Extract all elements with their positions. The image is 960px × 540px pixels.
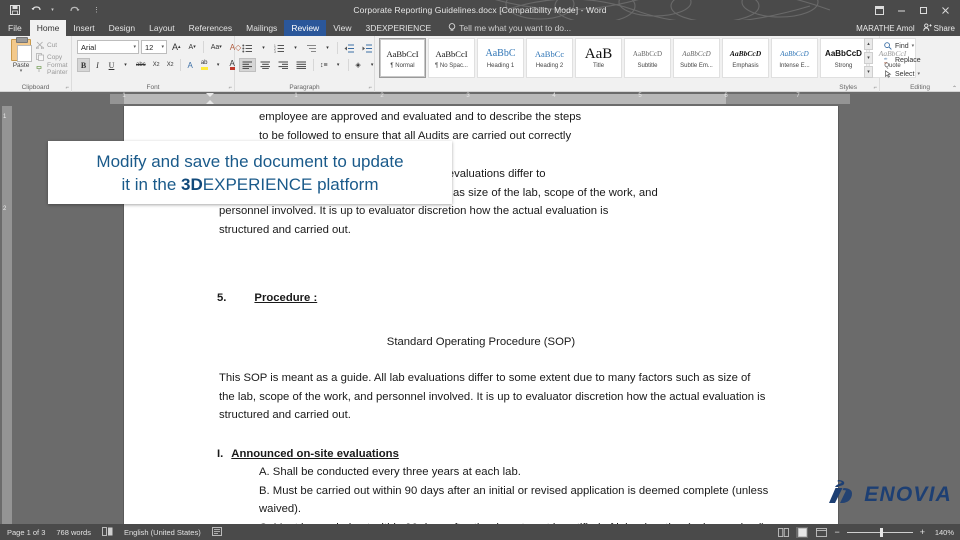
shading-button[interactable]: ◈ bbox=[352, 58, 365, 72]
select-caret-icon[interactable]: ▾ bbox=[917, 71, 920, 77]
underline-caret-icon[interactable]: ▾ bbox=[119, 58, 132, 72]
highlight-caret-icon[interactable]: ▾ bbox=[212, 58, 225, 72]
shrink-font-button[interactable]: A▾ bbox=[186, 40, 199, 54]
language-indicator[interactable]: English (United States) bbox=[124, 528, 201, 537]
account-area: MARATHE Amol Share bbox=[856, 20, 955, 36]
style-card-strong[interactable]: AaBbCcD Strong bbox=[820, 38, 867, 78]
select-label: Select bbox=[895, 71, 914, 78]
ribbon: Paste ▾ Cut Copy bbox=[0, 36, 960, 92]
callout-tooltip: Modify and save the document to update i… bbox=[48, 141, 452, 204]
zoom-in-button[interactable]: + bbox=[920, 527, 925, 537]
format-painter-label: Format Painter bbox=[47, 62, 71, 76]
ribbon-group-styles: AaBbCcI ¶ Normal AaBbCcI ¶ No Spac... Aa… bbox=[375, 36, 880, 92]
chevron-down-icon: ▾ bbox=[161, 44, 164, 50]
horizontal-ruler[interactable]: 1 1 2 3 4 5 6 7 bbox=[0, 92, 960, 106]
list-heading: I. Announced on-site evaluations bbox=[124, 445, 838, 464]
underline-button[interactable]: U bbox=[105, 58, 118, 72]
list-item: A. Shall be conducted every three years … bbox=[259, 463, 803, 482]
text-highlight-color-button[interactable]: ab bbox=[198, 58, 211, 72]
ruler-number: 7 bbox=[796, 93, 799, 99]
style-label: ¶ No Spac... bbox=[435, 63, 468, 69]
restore-icon[interactable] bbox=[912, 0, 934, 20]
style-label: ¶ Normal bbox=[390, 63, 414, 69]
style-card-subtle-emphasis[interactable]: AaBbCcD Subtle Em... bbox=[673, 38, 720, 78]
ruler-number: 3 bbox=[466, 93, 469, 99]
select-button[interactable]: Select ▾ bbox=[880, 67, 960, 81]
ribbon-group-paragraph: ▾ 123 ▾ ▾ ↓↑ ¶ ↕≡ ▾ ◈ bbox=[235, 36, 375, 92]
callout-3d-bold: 3D bbox=[181, 175, 203, 194]
strikethrough-button[interactable]: abc bbox=[133, 58, 149, 72]
ruler-number: 2 bbox=[380, 93, 383, 99]
first-line-indent-marker[interactable] bbox=[206, 93, 214, 97]
vertical-ruler[interactable]: 1 2 bbox=[0, 106, 14, 524]
copy-label: Copy bbox=[47, 54, 62, 61]
tell-me-placeholder: Tell me what you want to do... bbox=[459, 23, 571, 33]
style-label: Subtitle bbox=[637, 63, 657, 69]
tab-mailings[interactable]: Mailings bbox=[239, 20, 284, 36]
format-painter-icon bbox=[36, 65, 44, 73]
word-application-window: ▾ ⋮ Corporate Reporting Guidelines.docx … bbox=[0, 0, 960, 540]
callout-line-2-prefix: it in the bbox=[121, 175, 181, 194]
find-label: Find bbox=[895, 43, 909, 50]
styles-more-icon[interactable]: ▾ bbox=[864, 66, 873, 78]
paragraph: structured and carried out. bbox=[124, 221, 838, 240]
ribbon-group-editing: Find ▾ abac Replace Select ▾ Editing ⌃ bbox=[880, 36, 960, 92]
search-icon bbox=[884, 42, 892, 50]
proofing-errors-icon[interactable] bbox=[102, 527, 113, 538]
line-spacing-caret-icon[interactable]: ▾ bbox=[332, 58, 345, 72]
style-card-emphasis[interactable]: AaBbCcD Emphasis bbox=[722, 38, 769, 78]
style-card-title[interactable]: AaB Title bbox=[575, 38, 622, 78]
increase-indent-button[interactable] bbox=[359, 41, 376, 55]
tab-3dexperience[interactable]: 3DEXPERIENCE bbox=[358, 20, 438, 36]
print-layout-view-button[interactable] bbox=[796, 527, 808, 538]
enovia-brand-text: ENOVIA bbox=[864, 483, 952, 507]
3ds-logo-icon bbox=[829, 479, 859, 510]
read-mode-view-button[interactable] bbox=[777, 527, 789, 538]
page-info[interactable]: Page 1 of 3 bbox=[7, 528, 45, 537]
share-button[interactable]: Share bbox=[923, 23, 955, 34]
vruler-number: 2 bbox=[3, 206, 6, 212]
bold-button[interactable]: B bbox=[77, 58, 90, 72]
align-right-button[interactable] bbox=[275, 58, 292, 72]
grow-font-button[interactable]: A▴ bbox=[169, 40, 184, 54]
sop-heading: Standard Operating Procedure (SOP) bbox=[124, 333, 838, 352]
minimize-icon[interactable] bbox=[890, 0, 912, 20]
styles-gallery: AaBbCcI ¶ Normal AaBbCcI ¶ No Spac... Aa… bbox=[379, 38, 916, 78]
tell-me-search[interactable]: Tell me what you want to do... bbox=[438, 20, 571, 36]
ribbon-group-font: Arial ▾ 12 ▾ A▴ A▾ Aa▾ A◇ B I U ▾ abc X2 bbox=[72, 36, 235, 92]
font-dialog-launcher[interactable]: ⌐ bbox=[228, 85, 232, 91]
ribbon-tab-strip: File Home Insert Design Layout Reference… bbox=[0, 20, 960, 36]
style-label: Strong bbox=[835, 63, 853, 69]
line-spacing-button[interactable]: ↕≡ bbox=[317, 58, 331, 72]
paragraph: employee are approved and evaluated and … bbox=[124, 106, 838, 127]
section-title: Procedure : bbox=[254, 289, 317, 308]
paragraph-dialog-launcher[interactable]: ⌐ bbox=[368, 85, 372, 91]
paste-button[interactable]: Paste ▾ bbox=[5, 39, 37, 73]
collapse-ribbon-icon[interactable]: ⌃ bbox=[952, 85, 957, 92]
style-card-subtitle[interactable]: AaBbCcD Subtitle bbox=[624, 38, 671, 78]
paste-icon bbox=[11, 39, 31, 61]
replace-icon: abac bbox=[884, 56, 892, 64]
style-card-normal[interactable]: AaBbCcI ¶ Normal bbox=[379, 38, 426, 78]
chevron-down-icon: ▾ bbox=[133, 44, 136, 50]
subscript-button[interactable]: X2 bbox=[150, 58, 163, 72]
list-marker: I. bbox=[217, 445, 223, 464]
ribbon-group-clipboard: Paste ▾ Cut Copy bbox=[0, 36, 72, 92]
style-label: Emphasis bbox=[732, 63, 758, 69]
share-label: Share bbox=[934, 24, 955, 33]
style-label: Subtle Em... bbox=[680, 63, 713, 69]
font-name-combo[interactable]: Arial ▾ bbox=[77, 40, 139, 54]
tab-layout[interactable]: Layout bbox=[142, 20, 182, 36]
callout-text: Modify and save the document to update i… bbox=[86, 150, 413, 196]
style-label: Heading 2 bbox=[536, 63, 563, 69]
list-item: B. Must be carried out within 90 days af… bbox=[259, 482, 803, 519]
paragraph-group-label: Paragraph bbox=[235, 83, 374, 92]
style-preview: AaBbCcD bbox=[730, 48, 761, 60]
tab-view[interactable]: View bbox=[326, 20, 358, 36]
text-effects-button[interactable]: A bbox=[184, 58, 197, 72]
svg-text:3: 3 bbox=[274, 50, 276, 53]
styles-dialog-launcher[interactable]: ⌐ bbox=[873, 85, 877, 91]
style-preview: AaB bbox=[585, 48, 613, 60]
zoom-level[interactable]: 140% bbox=[932, 528, 954, 537]
replace-button[interactable]: abac Replace bbox=[880, 53, 960, 67]
clipboard-group-label: Clipboard bbox=[0, 83, 71, 92]
font-size-combo[interactable]: 12 ▾ bbox=[141, 40, 167, 54]
bullets-caret-icon[interactable]: ▾ bbox=[257, 41, 270, 55]
window-controls bbox=[868, 0, 956, 20]
tab-home[interactable]: Home bbox=[30, 20, 67, 36]
style-preview: AaBbCcD bbox=[780, 48, 808, 60]
ruler-number: 5 bbox=[638, 93, 641, 99]
document-title: Corporate Reporting Guidelines.docx [Com… bbox=[0, 5, 960, 15]
title-bar: ▾ ⋮ Corporate Reporting Guidelines.docx … bbox=[0, 0, 960, 20]
styles-gallery-scroll: ▴ ▾ ▾ bbox=[864, 38, 873, 78]
list-items: A. Shall be conducted every three years … bbox=[124, 463, 838, 524]
bullets-button[interactable] bbox=[239, 41, 256, 55]
style-label: Intense E... bbox=[779, 63, 809, 69]
style-preview: AaBbCcD bbox=[825, 48, 862, 60]
styles-scroll-up-icon[interactable]: ▴ bbox=[864, 38, 873, 50]
align-center-button[interactable] bbox=[257, 58, 274, 72]
find-button[interactable]: Find ▾ bbox=[880, 39, 960, 53]
style-card-intense-emphasis[interactable]: AaBbCcD Intense E... bbox=[771, 38, 818, 78]
style-card-heading-2[interactable]: AaBbCc Heading 2 bbox=[526, 38, 573, 78]
sop-body-paragraph: This SOP is meant as a guide. All lab ev… bbox=[124, 369, 838, 425]
font-name-value: Arial bbox=[81, 43, 96, 52]
hanging-indent-marker[interactable] bbox=[206, 100, 214, 104]
superscript-button[interactable]: X2 bbox=[164, 58, 177, 72]
list-heading-text: Announced on-site evaluations bbox=[231, 445, 399, 464]
font-group-label: Font bbox=[72, 83, 234, 92]
word-count[interactable]: 768 words bbox=[56, 528, 91, 537]
style-card-heading-1[interactable]: AaBbC Heading 1 bbox=[477, 38, 524, 78]
svg-text:ac: ac bbox=[884, 61, 888, 65]
style-preview: AaBbCcD bbox=[682, 48, 710, 60]
justify-button[interactable] bbox=[293, 58, 310, 72]
ruler-number: 6 bbox=[724, 93, 727, 99]
ruler-number: 4 bbox=[552, 93, 555, 99]
cut-button[interactable]: Cut bbox=[36, 39, 71, 51]
paste-caret-icon[interactable]: ▾ bbox=[20, 69, 23, 73]
section-heading: 5. Procedure : bbox=[124, 289, 838, 308]
replace-label: Replace bbox=[895, 57, 921, 64]
vruler-number: 1 bbox=[3, 114, 6, 120]
numbering-caret-icon[interactable]: ▾ bbox=[289, 41, 302, 55]
close-icon[interactable] bbox=[934, 0, 956, 20]
decrease-indent-button[interactable] bbox=[341, 41, 358, 55]
style-preview: AaBbCcD bbox=[633, 48, 662, 60]
callout-line-1: Modify and save the document to update bbox=[96, 152, 403, 171]
enovia-watermark: ENOVIA bbox=[829, 479, 952, 510]
status-bar: Page 1 of 3 768 words English (United St… bbox=[0, 524, 960, 540]
zoom-slider[interactable] bbox=[847, 527, 913, 538]
editing-group-label: Editing bbox=[880, 83, 960, 92]
user-name[interactable]: MARATHE Amol bbox=[856, 24, 915, 33]
style-preview: AaBbCcI bbox=[435, 48, 467, 60]
ruler-number: 1 bbox=[294, 93, 297, 99]
track-changes-icon[interactable] bbox=[212, 527, 222, 538]
style-card-no-spacing[interactable]: AaBbCcI ¶ No Spac... bbox=[428, 38, 475, 78]
multilevel-caret-icon[interactable]: ▾ bbox=[321, 41, 334, 55]
numbering-button[interactable]: 123 bbox=[271, 41, 288, 55]
zoom-out-button[interactable]: − bbox=[834, 527, 839, 537]
ruler-number: 1 bbox=[122, 93, 125, 99]
styles-group-label: Styles bbox=[375, 83, 879, 92]
copy-icon bbox=[36, 53, 44, 61]
style-preview: AaBbCc bbox=[535, 48, 564, 60]
style-preview: AaBbC bbox=[486, 48, 516, 60]
ribbon-display-options-icon[interactable] bbox=[868, 0, 890, 20]
font-size-value: 12 bbox=[145, 43, 153, 52]
share-person-icon bbox=[923, 23, 932, 34]
italic-button[interactable]: I bbox=[91, 58, 104, 72]
find-caret-icon[interactable]: ▾ bbox=[912, 43, 915, 49]
web-layout-view-button[interactable] bbox=[815, 527, 827, 538]
change-case-button[interactable]: Aa▾ bbox=[208, 40, 225, 54]
style-label: Heading 1 bbox=[487, 63, 514, 69]
cut-label: Cut bbox=[47, 42, 57, 49]
paragraph: personnel involved. It is up to evaluato… bbox=[124, 202, 838, 221]
select-icon bbox=[884, 70, 892, 78]
tab-references[interactable]: References bbox=[182, 20, 239, 36]
tab-insert[interactable]: Insert bbox=[66, 20, 101, 36]
clipboard-dialog-launcher[interactable]: ⌐ bbox=[65, 85, 69, 91]
callout-line-2-suffix: EXPERIENCE platform bbox=[203, 175, 379, 194]
scissors-icon bbox=[36, 41, 44, 49]
styles-scroll-down-icon[interactable]: ▾ bbox=[864, 52, 873, 64]
format-painter-button[interactable]: Format Painter bbox=[36, 63, 71, 75]
align-left-button[interactable] bbox=[239, 58, 256, 72]
tab-review[interactable]: Review bbox=[284, 20, 326, 36]
style-preview: AaBbCcI bbox=[386, 48, 418, 60]
style-label: Title bbox=[593, 63, 604, 69]
lightbulb-icon bbox=[448, 23, 456, 34]
tab-design[interactable]: Design bbox=[102, 20, 142, 36]
multilevel-list-button[interactable] bbox=[303, 41, 320, 55]
section-number: 5. bbox=[217, 289, 226, 308]
tab-file[interactable]: File bbox=[0, 20, 30, 36]
